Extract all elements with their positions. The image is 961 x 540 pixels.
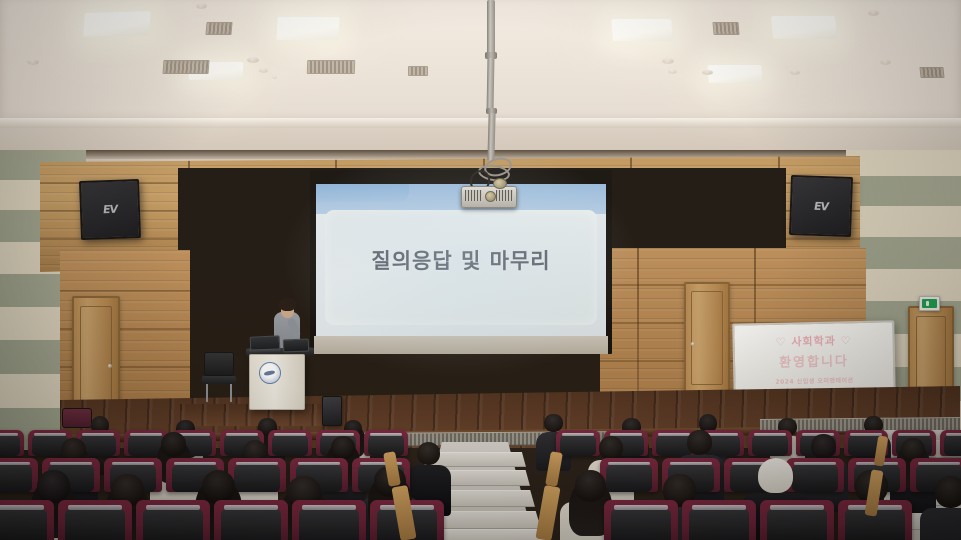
auditorium-seat-bar <box>34 433 66 436</box>
recessed-downlight <box>662 58 674 64</box>
recessed-downlight <box>247 57 259 63</box>
door-panel <box>691 291 723 385</box>
door-knob[interactable] <box>691 342 695 346</box>
auditorium-seat-bar <box>692 505 745 509</box>
recessed-downlight <box>868 10 879 16</box>
audience-member-head <box>161 432 186 457</box>
recessed-downlight <box>259 68 268 73</box>
recessed-panel-light <box>611 19 672 41</box>
auditorium-seat-cushion <box>611 509 670 540</box>
slide-tab-shape <box>316 184 409 202</box>
auditorium-seat-bar <box>146 505 199 509</box>
auditorium-photo: EV EV 질의응답 및 마무리 <box>0 0 961 540</box>
auditorium-seat-cushion <box>143 509 202 540</box>
audience-member-head <box>37 470 70 503</box>
auditorium-seat-cushion <box>299 509 358 540</box>
stage-rear-door[interactable] <box>684 282 730 394</box>
auditorium-seat-bar <box>850 433 882 436</box>
auditorium-seat-cushion <box>752 435 787 456</box>
auditorium-seat-bar <box>68 505 121 509</box>
recessed-panel-light <box>276 17 339 40</box>
auditorium-seat-bar <box>0 505 44 509</box>
recessed-downlight <box>702 70 713 75</box>
left-wall-speaker: EV <box>79 179 141 240</box>
audience-member-beanie <box>758 458 793 493</box>
auditorium-seat-bar <box>224 505 277 509</box>
recessed-downlight <box>272 75 277 79</box>
audience-member-head <box>331 436 355 460</box>
auditorium-seat-bar <box>614 505 667 509</box>
auditorium-seat-bar <box>770 505 823 509</box>
auditorium-seat-bar <box>274 433 306 436</box>
projector-mount-pole <box>487 113 495 161</box>
auditorium-seat-cushion <box>767 509 826 540</box>
whiteboard-line-3: 2024 신입생 오리엔테이션 <box>735 374 893 386</box>
whiteboard-line-2: 환영합니다 <box>735 349 893 371</box>
ev-brand-label: EV <box>102 203 117 217</box>
right-wall-speaker: EV <box>789 175 853 237</box>
ceiling-air-vent <box>307 60 355 74</box>
projector-lens <box>485 191 496 202</box>
ceiling-air-vent <box>163 60 210 74</box>
ceiling-projector <box>461 186 517 208</box>
lectern <box>249 354 305 410</box>
ceiling-lip <box>0 118 961 128</box>
projector-lens-barrel <box>493 178 507 189</box>
presenter-head <box>279 298 296 311</box>
auditorium-seat-bar <box>174 462 216 465</box>
door-panel <box>80 306 112 406</box>
second-monitor[interactable] <box>283 339 309 353</box>
projector-mount-pole <box>487 0 495 54</box>
audience-member-head <box>575 470 607 502</box>
auditorium-seat-bar <box>0 433 18 436</box>
auditorium-seat-bar <box>112 462 154 465</box>
auditorium-seat-bar <box>608 462 650 465</box>
university-emblem <box>259 362 281 384</box>
recessed-downlight <box>196 3 207 9</box>
chair-leg <box>230 384 232 402</box>
auditorium-seat-bar <box>82 433 114 436</box>
chair-leg <box>206 384 208 402</box>
recessed-panel-light <box>771 16 837 39</box>
auditorium-seat-cushion <box>0 509 47 540</box>
auditorium-seat-cushion <box>65 509 124 540</box>
ceiling-air-vent <box>408 66 428 76</box>
seat-armrest <box>535 485 560 540</box>
audience-member-head <box>202 470 236 504</box>
auditorium-seat-bar <box>50 462 92 465</box>
emergency-exit-sign <box>919 296 940 311</box>
left-side-door[interactable] <box>72 296 120 416</box>
auditorium-seat-bar <box>298 462 340 465</box>
whiteboard-line-1: ♡ 사회학과 ♡ <box>734 331 892 350</box>
auditorium-seat-bar <box>226 433 258 436</box>
audience-member-head <box>811 434 836 459</box>
audience-member-torso <box>920 508 961 540</box>
auditorium-seat-cushion <box>221 509 280 540</box>
projector-vent <box>496 190 513 201</box>
screen-bottom-bar <box>314 336 608 354</box>
auditorium-seat-bar <box>898 433 930 436</box>
auditorium-seat-bar <box>754 433 786 436</box>
ceiling-air-vent <box>919 67 944 78</box>
recessed-downlight <box>27 59 39 65</box>
auditorium-seat-bar <box>236 462 278 465</box>
projector-mount-pole <box>487 58 495 110</box>
auditorium-seat-bar <box>670 462 712 465</box>
auditorium-seat-bar <box>370 433 402 436</box>
ceiling-air-vent <box>205 22 232 35</box>
recessed-downlight <box>880 59 891 65</box>
chair-backrest <box>204 352 234 376</box>
ev-brand-label: EV <box>813 199 829 212</box>
auditorium-seat-bar <box>946 433 961 436</box>
recessed-panel-light <box>707 65 762 83</box>
chair-seat <box>202 376 236 384</box>
recessed-panel-light <box>83 11 151 37</box>
slide-title: 질의응답 및 마무리 <box>316 245 606 275</box>
ceiling-air-vent <box>712 22 739 35</box>
exit-sign-pictogram <box>922 299 937 308</box>
auditorium-seat-cushion <box>689 509 748 540</box>
audience-member-head <box>687 430 712 455</box>
auditorium-seat-bar <box>302 505 355 509</box>
audience-member-head <box>935 476 961 508</box>
auditorium-seat-cushion <box>944 435 961 456</box>
audience-member-head <box>417 442 440 465</box>
projector-vent <box>465 190 482 201</box>
door-knob[interactable] <box>108 364 112 368</box>
recessed-downlight <box>790 70 800 75</box>
recessed-downlight <box>668 69 677 74</box>
auditorium-seat-bar <box>0 462 30 465</box>
auditorium-seat-bar <box>918 462 960 465</box>
auditorium-seat-cushion <box>0 435 20 456</box>
audience-member <box>920 476 961 540</box>
audience-member-head <box>599 436 623 460</box>
